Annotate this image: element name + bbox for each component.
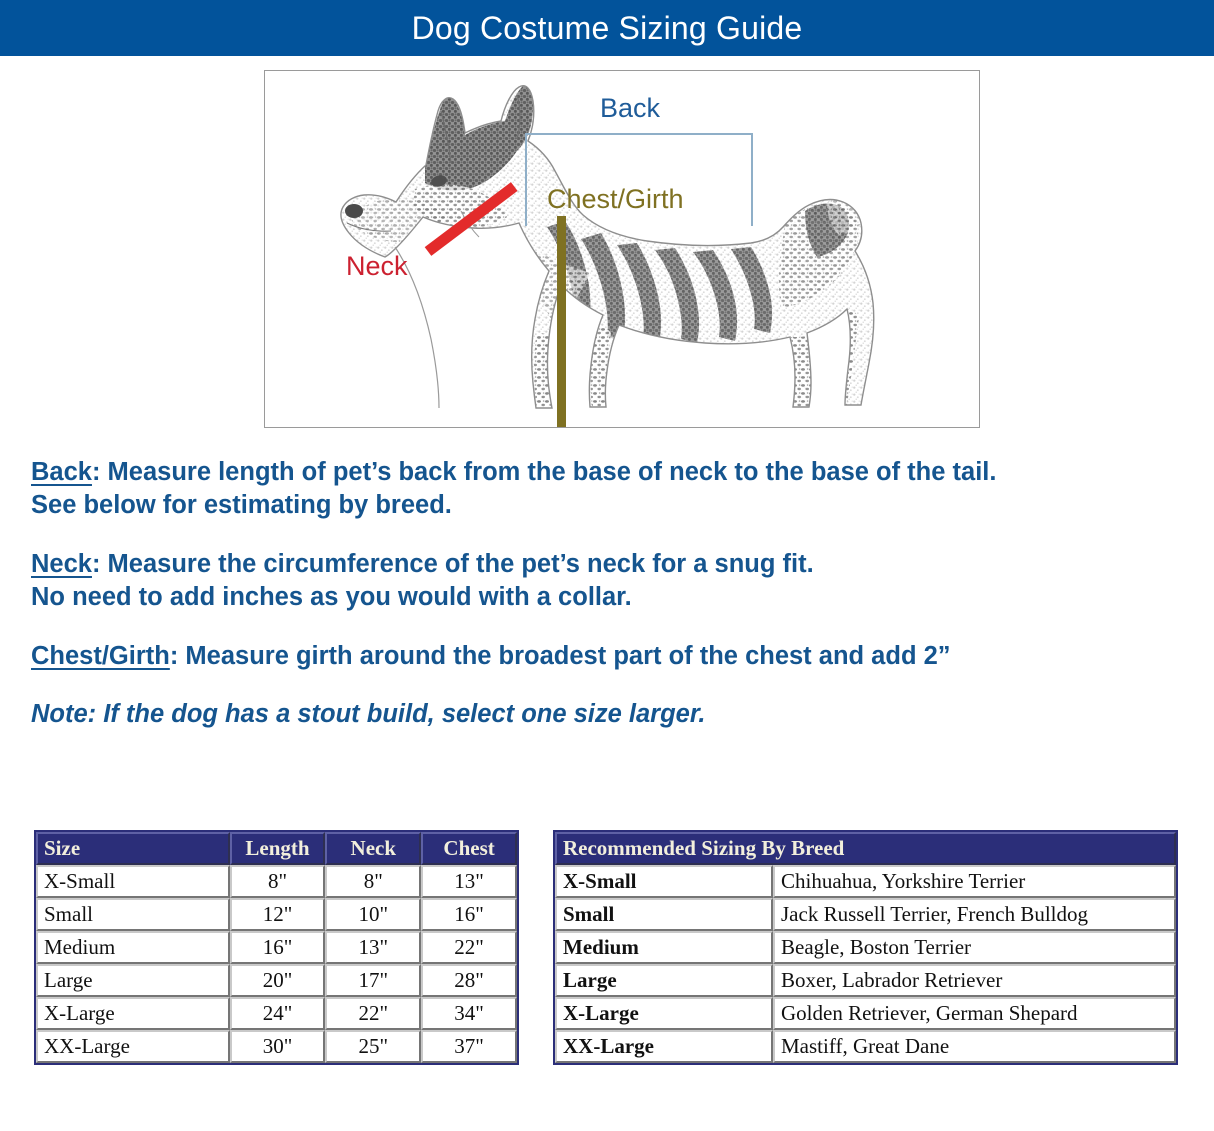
table-row: Medium Beagle, Boston Terrier: [555, 931, 1176, 964]
cell-breed-names: Golden Retriever, German Shepard: [773, 997, 1176, 1030]
cell-breed-names: Chihuahua, Yorkshire Terrier: [773, 865, 1176, 898]
table-row: XX-Large Mastiff, Great Dane: [555, 1030, 1176, 1063]
cell-neck: 25": [325, 1030, 421, 1063]
tables-section: Size Length Neck Chest X-Small 8" 8" 13"…: [0, 830, 1214, 1130]
instruction-neck-lead: Neck: [31, 550, 92, 578]
diagram-canvas: Back Chest/Girth Neck: [265, 71, 979, 427]
table-row: Large 20" 17" 28": [36, 964, 517, 997]
cell-chest: 28": [421, 964, 517, 997]
instruction-back-lead: Back: [31, 458, 92, 486]
cell-size: Medium: [36, 931, 230, 964]
col-header-neck: Neck: [325, 832, 421, 865]
cell-length: 30": [230, 1030, 326, 1063]
instruction-note-text: Note: If the dog has a stout build, sele…: [31, 700, 705, 728]
table-header-row: Size Length Neck Chest: [36, 832, 517, 865]
col-header-length: Length: [230, 832, 326, 865]
size-measurements-table-wrap: Size Length Neck Chest X-Small 8" 8" 13"…: [34, 830, 519, 1065]
instruction-neck-line2: No need to add inches as you would with …: [31, 583, 632, 611]
col-header-size: Size: [36, 832, 230, 865]
dog-illustration-icon: [265, 71, 979, 427]
cell-breed-names: Beagle, Boston Terrier: [773, 931, 1176, 964]
cell-length: 12": [230, 898, 326, 931]
instruction-neck-text: : Measure the circumference of the pet’s…: [92, 550, 814, 578]
cell-length: 8": [230, 865, 326, 898]
cell-neck: 17": [325, 964, 421, 997]
table-row: X-Small 8" 8" 13": [36, 865, 517, 898]
cell-breed-size: Small: [555, 898, 773, 931]
cell-breed-size: X-Small: [555, 865, 773, 898]
instruction-back: Back: Measure length of pet’s back from …: [31, 456, 1181, 522]
table-row: XX-Large 30" 25" 37": [36, 1030, 517, 1063]
cell-breed-size: X-Large: [555, 997, 773, 1030]
cell-chest: 34": [421, 997, 517, 1030]
instruction-chest-text: : Measure girth around the broadest part…: [170, 642, 951, 670]
cell-length: 24": [230, 997, 326, 1030]
instruction-neck: Neck: Measure the circumference of the p…: [31, 548, 1181, 614]
cell-chest: 22": [421, 931, 517, 964]
cell-breed-size: XX-Large: [555, 1030, 773, 1063]
table-row: Medium 16" 13" 22": [36, 931, 517, 964]
table-row: X-Large 24" 22" 34": [36, 997, 517, 1030]
cell-size: X-Large: [36, 997, 230, 1030]
cell-breed-names: Jack Russell Terrier, French Bulldog: [773, 898, 1176, 931]
cell-size: Small: [36, 898, 230, 931]
cell-breed-size: Medium: [555, 931, 773, 964]
table-row: X-Large Golden Retriever, German Shepard: [555, 997, 1176, 1030]
cell-size: Large: [36, 964, 230, 997]
table-row: Large Boxer, Labrador Retriever: [555, 964, 1176, 997]
table-header-row: Recommended Sizing By Breed: [555, 832, 1176, 865]
cell-neck: 10": [325, 898, 421, 931]
cell-chest: 16": [421, 898, 517, 931]
cell-breed-names: Mastiff, Great Dane: [773, 1030, 1176, 1063]
table-row: X-Small Chihuahua, Yorkshire Terrier: [555, 865, 1176, 898]
cell-neck: 13": [325, 931, 421, 964]
chest-measure-bar: [557, 216, 566, 427]
cell-neck: 22": [325, 997, 421, 1030]
cell-breed-size: Large: [555, 964, 773, 997]
breed-sizing-table: Recommended Sizing By Breed X-Small Chih…: [555, 832, 1176, 1063]
page-header-banner: Dog Costume Sizing Guide: [0, 0, 1214, 56]
cell-length: 16": [230, 931, 326, 964]
cell-chest: 37": [421, 1030, 517, 1063]
table-row: Small Jack Russell Terrier, French Bulld…: [555, 898, 1176, 931]
diagram-label-back: Back: [600, 93, 660, 124]
size-measurements-table: Size Length Neck Chest X-Small 8" 8" 13"…: [36, 832, 517, 1063]
instruction-back-text: : Measure length of pet’s back from the …: [92, 458, 996, 486]
instruction-back-line2: See below for estimating by breed.: [31, 491, 452, 519]
col-header-breed-title: Recommended Sizing By Breed: [555, 832, 1176, 865]
table-row: Small 12" 10" 16": [36, 898, 517, 931]
cell-size: XX-Large: [36, 1030, 230, 1063]
cell-size: X-Small: [36, 865, 230, 898]
instruction-chest: Chest/Girth: Measure girth around the br…: [31, 640, 1181, 673]
cell-length: 20": [230, 964, 326, 997]
measurement-diagram: Back Chest/Girth Neck: [264, 70, 980, 428]
breed-sizing-table-wrap: Recommended Sizing By Breed X-Small Chih…: [553, 830, 1178, 1065]
col-header-chest: Chest: [421, 832, 517, 865]
diagram-label-chest: Chest/Girth: [547, 184, 684, 215]
instruction-note: Note: If the dog has a stout build, sele…: [31, 698, 1181, 731]
diagram-label-neck: Neck: [346, 251, 408, 282]
page-title: Dog Costume Sizing Guide: [412, 12, 803, 44]
cell-breed-names: Boxer, Labrador Retriever: [773, 964, 1176, 997]
cell-neck: 8": [325, 865, 421, 898]
instructions-block: Back: Measure length of pet’s back from …: [31, 456, 1181, 731]
instruction-chest-lead: Chest/Girth: [31, 642, 170, 670]
cell-chest: 13": [421, 865, 517, 898]
